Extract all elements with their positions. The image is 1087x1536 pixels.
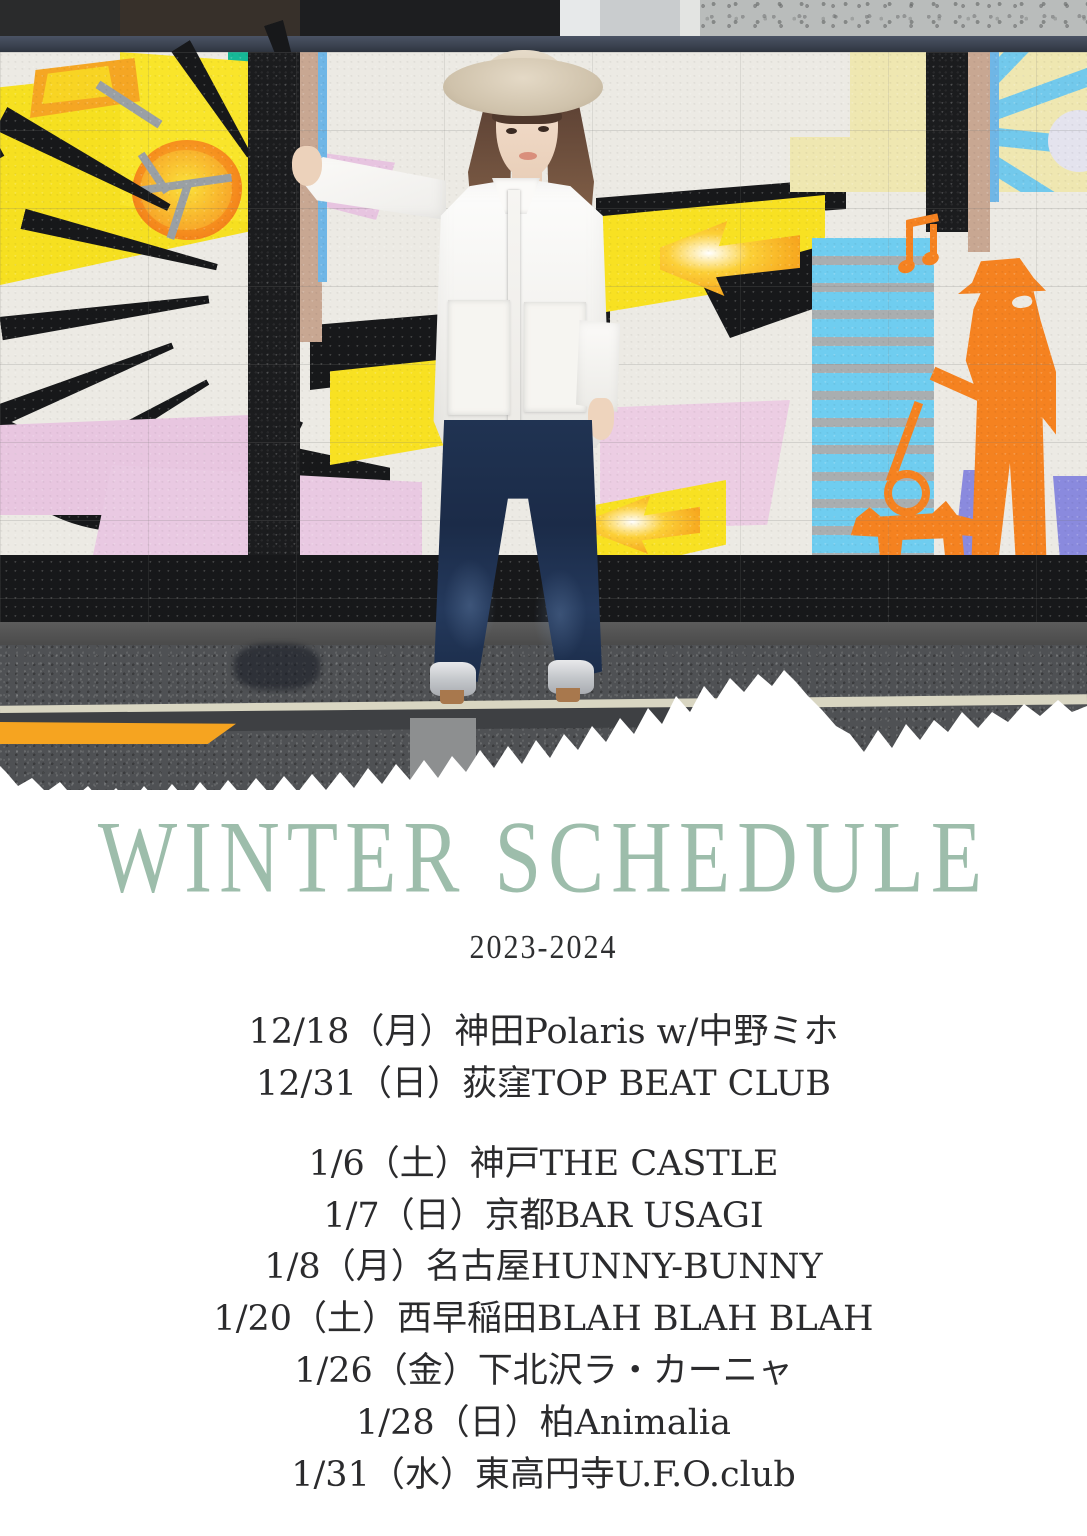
list-item: 12/18（月）神田Polaris w/中野ミホ <box>0 1007 1087 1059</box>
mural-white-corner <box>790 52 850 137</box>
header-photo <box>0 0 1087 790</box>
torn-paper-edge <box>0 600 1087 790</box>
page-subtitle: 2023-2024 <box>0 929 1087 967</box>
subject-shirt-pocket-left <box>448 300 510 415</box>
page-title: WINTER SCHEDULE <box>0 805 1087 913</box>
list-item: 1/6（土）神戸THE CASTLE <box>0 1139 1087 1191</box>
list-item: 1/8（月）名古屋HUNNY-BUNNY <box>0 1242 1087 1294</box>
list-item: 1/20（土）西早稲田BLAH BLAH BLAH <box>0 1294 1087 1346</box>
list-item: 12/31（日）荻窪TOP BEAT CLUB <box>0 1059 1087 1111</box>
mural-dog-leash-loop <box>884 470 930 516</box>
list-item: 1/31（水）東高円寺U.F.O.club <box>0 1450 1087 1502</box>
note-head-2 <box>920 249 940 267</box>
subject-left-hand <box>292 146 322 186</box>
schedule-month-gap <box>0 1111 1087 1139</box>
building-stucco-texture <box>700 0 1087 40</box>
torn-edge-path <box>0 670 1087 790</box>
wall-pillar-right <box>926 52 970 232</box>
subject-hat-brim <box>443 58 603 116</box>
subject-eye-right <box>538 126 549 132</box>
list-item: 1/7（日）京都BAR USAGI <box>0 1191 1087 1243</box>
list-item: 1/28（日）柏Animalia <box>0 1398 1087 1450</box>
poster: WINTER SCHEDULE 2023-2024 12/18（月）神田Pola… <box>0 0 1087 1536</box>
subject-eye-left <box>506 128 517 134</box>
list-item: 1/26（金）下北沢ラ・カーニャ <box>0 1346 1087 1398</box>
wall-blue-stripe-right <box>990 52 999 202</box>
wall-beige-column-right <box>968 52 990 252</box>
note-head-1 <box>896 257 916 275</box>
subject-lips <box>519 152 537 160</box>
schedule-list: 12/18（月）神田Polaris w/中野ミホ 12/31（日）荻窪TOP B… <box>0 1007 1087 1501</box>
schedule-content: WINTER SCHEDULE 2023-2024 12/18（月）神田Pola… <box>0 790 1087 1536</box>
mural-music-note <box>900 220 944 276</box>
wall-coping-band <box>0 36 1087 52</box>
